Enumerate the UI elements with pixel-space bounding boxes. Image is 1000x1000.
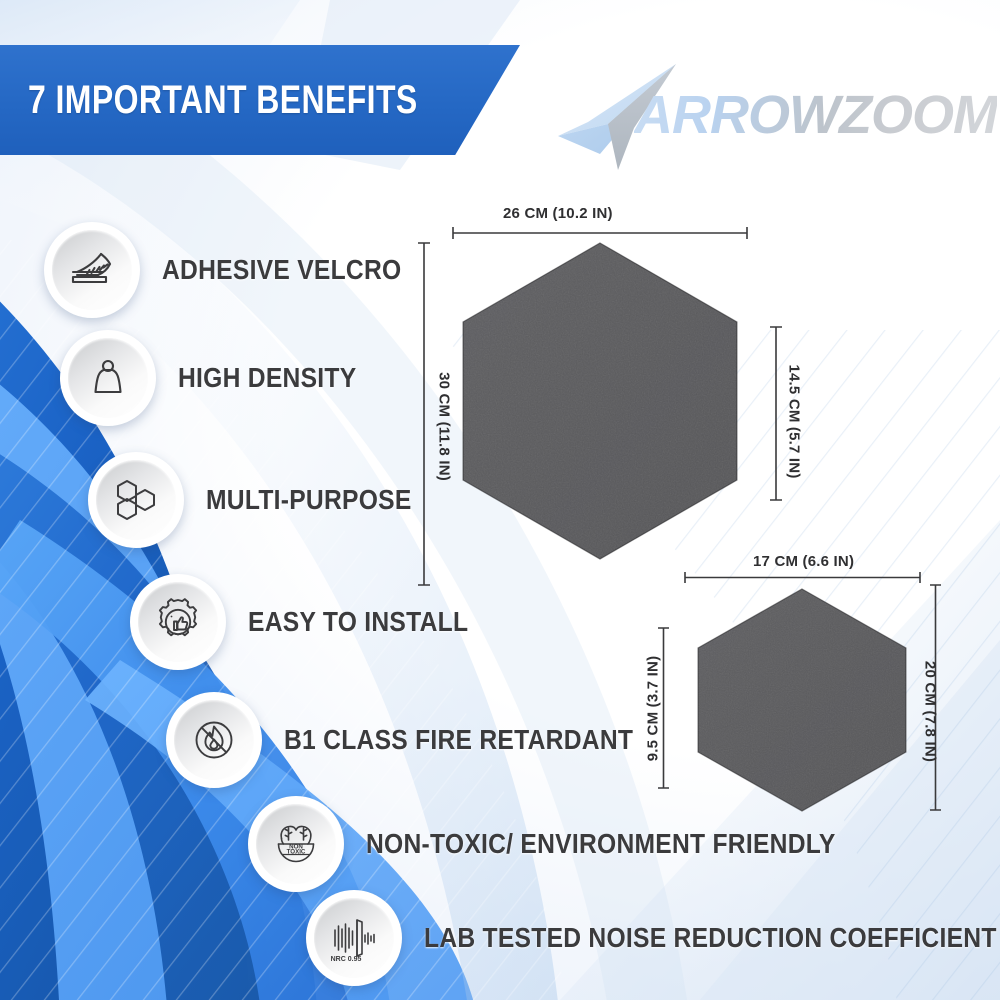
infographic-canvas: 7 IMPORTANT BENEFITS ARROWZOOM <box>0 0 1000 1000</box>
benefit-badge: NRC 0.95 <box>306 890 402 986</box>
benefit-item-nrc[interactable]: NRC 0.95 LAB TESTED NOISE REDUCTION COEF… <box>306 890 1000 986</box>
benefit-label: LAB TESTED NOISE REDUCTION COEFFICIENT <box>424 922 997 954</box>
benefit-label: B1 CLASS FIRE RETARDANT <box>284 724 633 756</box>
weight-icon <box>68 338 148 418</box>
hexagon-cluster-icon <box>96 460 176 540</box>
benefit-label: HIGH DENSITY <box>178 362 356 394</box>
non-toxic-line2: TOXIC <box>287 849 306 856</box>
benefit-label: MULTI-PURPOSE <box>206 484 412 516</box>
small-panel-width-label: 17 CM (6.6 IN) <box>753 553 854 570</box>
sound-wave-nrc-icon: NRC 0.95 <box>314 898 394 978</box>
benefit-badge <box>166 692 262 788</box>
small-panel-height-label: 20 CM (7.8 IN) <box>922 637 939 787</box>
benefit-label: ADHESIVE VELCRO <box>162 254 401 286</box>
benefit-item-adhesive-velcro[interactable]: ADHESIVE VELCRO <box>44 222 434 318</box>
benefit-badge <box>60 330 156 426</box>
large-panel-height-label: 30 CM (11.8 IN) <box>436 347 453 507</box>
nrc-value-text: NRC 0.95 <box>331 956 362 963</box>
velcro-strip-icon <box>52 230 132 310</box>
gear-thumbs-up-icon <box>138 582 218 662</box>
large-panel-width-label: 26 CM (10.2 IN) <box>503 205 613 222</box>
benefit-badge <box>88 452 184 548</box>
benefit-badge: NON TOXIC <box>248 796 344 892</box>
non-toxic-badge-icon: NON TOXIC <box>256 804 336 884</box>
large-panel-side-label: 14.5 CM (5.7 IN) <box>786 342 803 502</box>
benefit-item-high-density[interactable]: HIGH DENSITY <box>60 330 381 426</box>
benefit-badge <box>44 222 140 318</box>
no-fire-icon <box>174 700 254 780</box>
benefit-item-multi-purpose[interactable]: MULTI-PURPOSE <box>88 452 440 548</box>
benefit-item-fire-retardant[interactable]: B1 CLASS FIRE RETARDANT <box>166 692 681 788</box>
small-panel-side-label: 9.5 CM (3.7 IN) <box>645 634 662 784</box>
benefit-badge <box>130 574 226 670</box>
small-panel-dimension-lines <box>630 545 970 845</box>
